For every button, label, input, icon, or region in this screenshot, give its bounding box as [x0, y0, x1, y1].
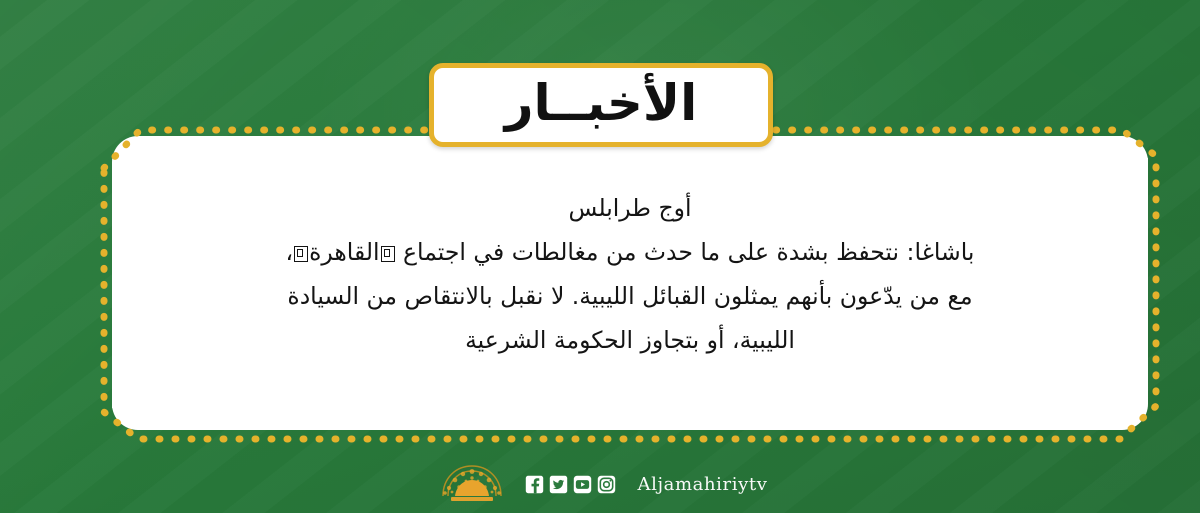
twitter-icon[interactable] — [549, 475, 568, 494]
news-line-2-part-b: القاهرة — [309, 238, 379, 266]
page-title: الأخبــار — [505, 78, 698, 128]
news-card-graphic: الأخبــار أوج طرابلس باشاغا: نتحفظ بشدة … — [0, 0, 1200, 513]
social-links — [525, 475, 616, 494]
news-line-2-part-a: باشاغا: نتحفظ بشدة على ما حدث من مغالطات… — [396, 238, 975, 266]
social-handle-label: Aljamahiriytv — [638, 474, 768, 495]
news-line-1: أوج طرابلس — [130, 186, 1130, 230]
footer-bar: Aljamahiriytv — [0, 455, 1200, 513]
youtube-icon[interactable] — [573, 475, 592, 494]
news-line-3: مع من يدّعون بأنهم يمثلون القبائل الليبي… — [130, 274, 1130, 318]
missing-glyph-close-quote-icon — [294, 246, 308, 262]
news-line-2-part-c: ، — [286, 238, 294, 266]
instagram-icon[interactable] — [597, 475, 616, 494]
news-line-4: الليبية، أو بتجاوز الحكومة الشرعية — [130, 318, 1130, 362]
facebook-icon[interactable] — [525, 475, 544, 494]
news-line-2: باشاغا: نتحفظ بشدة على ما حدث من مغالطات… — [130, 230, 1130, 274]
news-body-text: أوج طرابلس باشاغا: نتحفظ بشدة على ما حدث… — [130, 186, 1130, 362]
news-title-plate: الأخبــار — [429, 63, 773, 147]
aljamahiriy-dome-logo-icon — [433, 462, 511, 506]
missing-glyph-open-quote-icon — [381, 246, 395, 262]
